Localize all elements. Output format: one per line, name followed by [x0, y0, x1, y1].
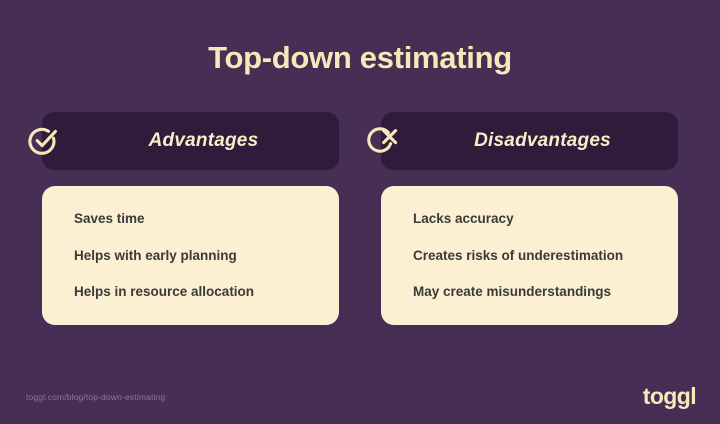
- list-item: Helps with early planning: [42, 249, 339, 263]
- column-disadvantages: Disadvantages Lacks accuracy Creates ris…: [381, 112, 678, 325]
- column-advantages: Advantages Saves time Helps with early p…: [42, 112, 339, 325]
- list-item: Helps in resource allocation: [42, 285, 339, 299]
- infographic-content: Top-down estimating Advantages Saves tim…: [0, 0, 720, 424]
- list-item: May create misunderstandings: [381, 285, 678, 299]
- infographic-canvas: Top-down estimating Advantages Saves tim…: [0, 0, 720, 424]
- list-card-disadvantages: Lacks accuracy Creates risks of underest…: [381, 186, 678, 325]
- check-circle-icon: [26, 124, 60, 158]
- column-heading-label: Disadvantages: [448, 130, 611, 152]
- toggl-logo: toggl: [643, 385, 696, 408]
- comparison-columns: Advantages Saves time Helps with early p…: [42, 112, 678, 325]
- page-title: Top-down estimating: [0, 40, 720, 76]
- list-item: Saves time: [42, 212, 339, 226]
- list-item: Lacks accuracy: [381, 212, 678, 226]
- x-circle-icon: [365, 124, 399, 158]
- column-heading-label: Advantages: [123, 130, 259, 152]
- list-item: Creates risks of underestimation: [381, 249, 678, 263]
- column-header-advantages: Advantages: [42, 112, 339, 170]
- list-card-advantages: Saves time Helps with early planning Hel…: [42, 186, 339, 325]
- column-header-disadvantages: Disadvantages: [381, 112, 678, 170]
- source-url: toggl.com/blog/top-down-estimating: [26, 392, 165, 402]
